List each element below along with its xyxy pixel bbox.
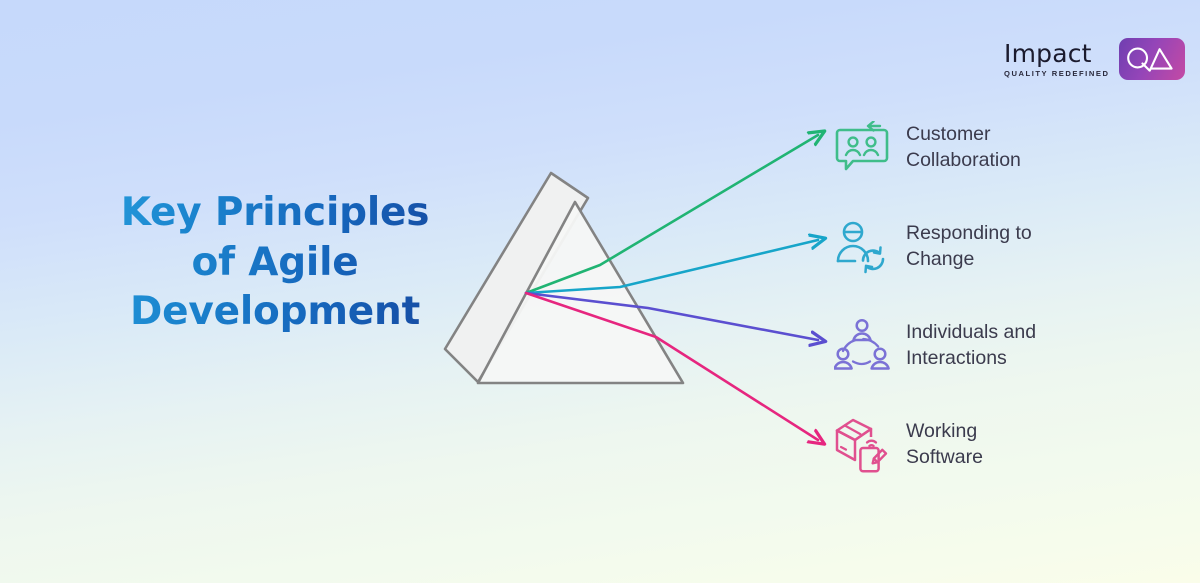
qa-badge (1119, 38, 1185, 80)
list-item-label: Customer Collaboration (906, 122, 1021, 174)
list-item-label: Working Software (906, 419, 983, 471)
brand-logo[interactable]: Impact QUALITY REDEFINED (1004, 38, 1185, 80)
page-title-line-3: Development (60, 287, 490, 337)
list-item[interactable]: Working Software (832, 409, 1172, 481)
page-title-line-1: Key Principles (60, 188, 490, 238)
page-title: Key Principles of Agile Development (60, 188, 490, 337)
list-item-label: Individuals and Interactions (906, 320, 1036, 372)
qa-monogram-icon (1126, 45, 1178, 73)
responding-to-change-icon (832, 218, 892, 276)
working-software-icon (832, 416, 892, 474)
brand-name: Impact (1004, 41, 1092, 66)
list-item[interactable]: Individuals and Interactions (832, 310, 1172, 382)
list-item-label: Responding to Change (906, 221, 1032, 273)
infographic-canvas: Key Principles of Agile Development Impa… (0, 0, 1200, 583)
principles-list: Customer Collaboration Responding to Cha… (832, 112, 1172, 508)
list-item[interactable]: Responding to Change (832, 211, 1172, 283)
list-item[interactable]: Customer Collaboration (832, 112, 1172, 184)
individuals-and-interactions-icon (832, 317, 892, 375)
brand-tagline: QUALITY REDEFINED (1004, 70, 1110, 78)
customer-collaboration-icon (832, 119, 892, 177)
brand-wordmark: Impact QUALITY REDEFINED (1004, 41, 1110, 78)
page-title-line-2: of Agile (60, 238, 490, 288)
